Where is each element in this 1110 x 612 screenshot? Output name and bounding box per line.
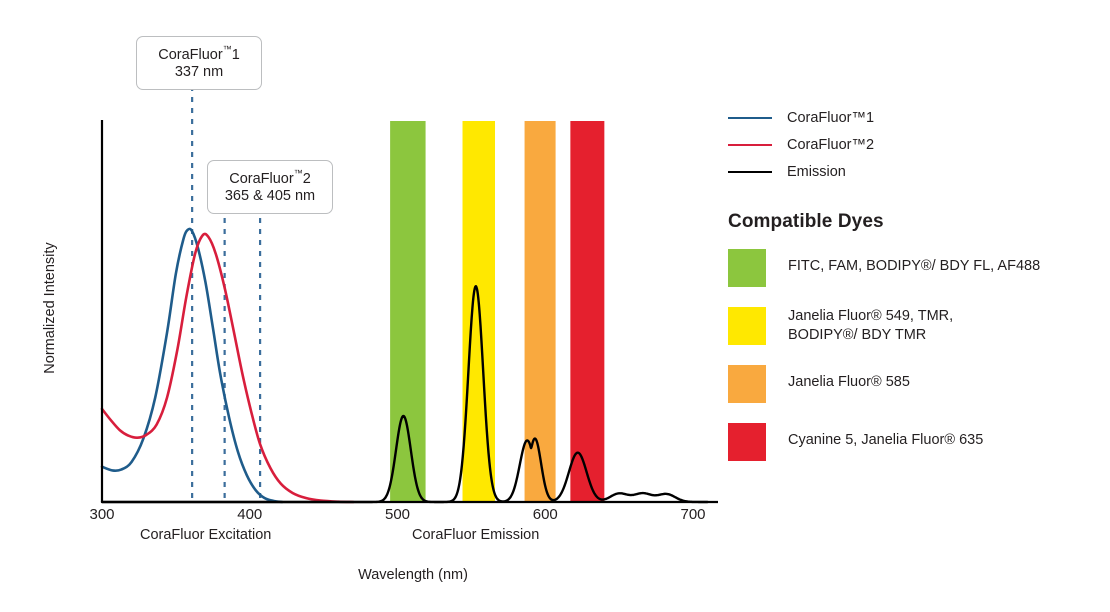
line-legend: CoraFluor™1CoraFluor™2Emission bbox=[728, 104, 1100, 185]
x-tick-600: 600 bbox=[515, 506, 575, 523]
emission-region-label: CoraFluor Emission bbox=[412, 527, 539, 543]
x-tick-700: 700 bbox=[663, 506, 723, 523]
callout-corafluor1: CoraFluor™1 337 nm bbox=[136, 36, 262, 90]
legend-line-row-1: CoraFluor™1 bbox=[728, 104, 1100, 131]
legend-line-row-3: Emission bbox=[728, 158, 1100, 185]
dye-swatch-3 bbox=[728, 365, 766, 403]
compatible-dyes-title: Compatible Dyes bbox=[728, 211, 1100, 233]
callout-corafluor2-line2: 365 & 405 nm bbox=[220, 188, 320, 205]
dye-band-red bbox=[570, 121, 604, 502]
legend-line-label-2: CoraFluor™2 bbox=[787, 137, 874, 153]
legend-line-swatch-2 bbox=[728, 144, 772, 146]
legend-line-row-2: CoraFluor™2 bbox=[728, 131, 1100, 158]
dye-row-4: Cyanine 5, Janelia Fluor® 635 bbox=[728, 423, 1100, 461]
dye-row-3: Janelia Fluor® 585 bbox=[728, 365, 1100, 403]
dye-swatch-1 bbox=[728, 249, 766, 287]
dye-band-green bbox=[390, 121, 425, 502]
callout-corafluor1-line2: 337 nm bbox=[149, 64, 249, 81]
callout-corafluor1-line1: CoraFluor™1 bbox=[149, 44, 249, 64]
dye-swatch-2 bbox=[728, 307, 766, 345]
x-tick-300: 300 bbox=[72, 506, 132, 523]
dye-swatch-4 bbox=[728, 423, 766, 461]
dye-row-2: Janelia Fluor® 549, TMR,BODIPY®/ BDY TMR bbox=[728, 307, 1100, 345]
dye-row-1: FITC, FAM, BODIPY®/ BDY FL, AF488 bbox=[728, 249, 1100, 287]
dye-label-3: Janelia Fluor® 585 bbox=[788, 365, 910, 392]
legend-line-label-3: Emission bbox=[787, 164, 846, 180]
excitation-region-label: CoraFluor Excitation bbox=[140, 527, 271, 543]
x-tick-400: 400 bbox=[220, 506, 280, 523]
compatible-dyes-list: FITC, FAM, BODIPY®/ BDY FL, AF488Janelia… bbox=[728, 249, 1100, 461]
y-axis-label: Normalized Intensity bbox=[42, 228, 58, 388]
x-tick-500: 500 bbox=[368, 506, 428, 523]
x-axis-label: Wavelength (nm) bbox=[293, 567, 533, 583]
curve-corafluor2 bbox=[102, 234, 353, 502]
legend-line-swatch-1 bbox=[728, 117, 772, 119]
dye-label-1: FITC, FAM, BODIPY®/ BDY FL, AF488 bbox=[788, 249, 1040, 276]
dye-label-2: Janelia Fluor® 549, TMR,BODIPY®/ BDY TMR bbox=[788, 307, 953, 344]
callout-corafluor2: CoraFluor™2 365 & 405 nm bbox=[207, 160, 333, 214]
callout-corafluor2-line1: CoraFluor™2 bbox=[220, 168, 320, 188]
legend-panel: CoraFluor™1CoraFluor™2Emission Compatibl… bbox=[728, 104, 1100, 481]
dye-label-4: Cyanine 5, Janelia Fluor® 635 bbox=[788, 423, 983, 450]
legend-line-swatch-3 bbox=[728, 171, 772, 173]
fluorescence-spectra-figure: CoraFluor™1 337 nm CoraFluor™2 365 & 405… bbox=[0, 0, 1110, 612]
legend-line-label-1: CoraFluor™1 bbox=[787, 110, 874, 126]
